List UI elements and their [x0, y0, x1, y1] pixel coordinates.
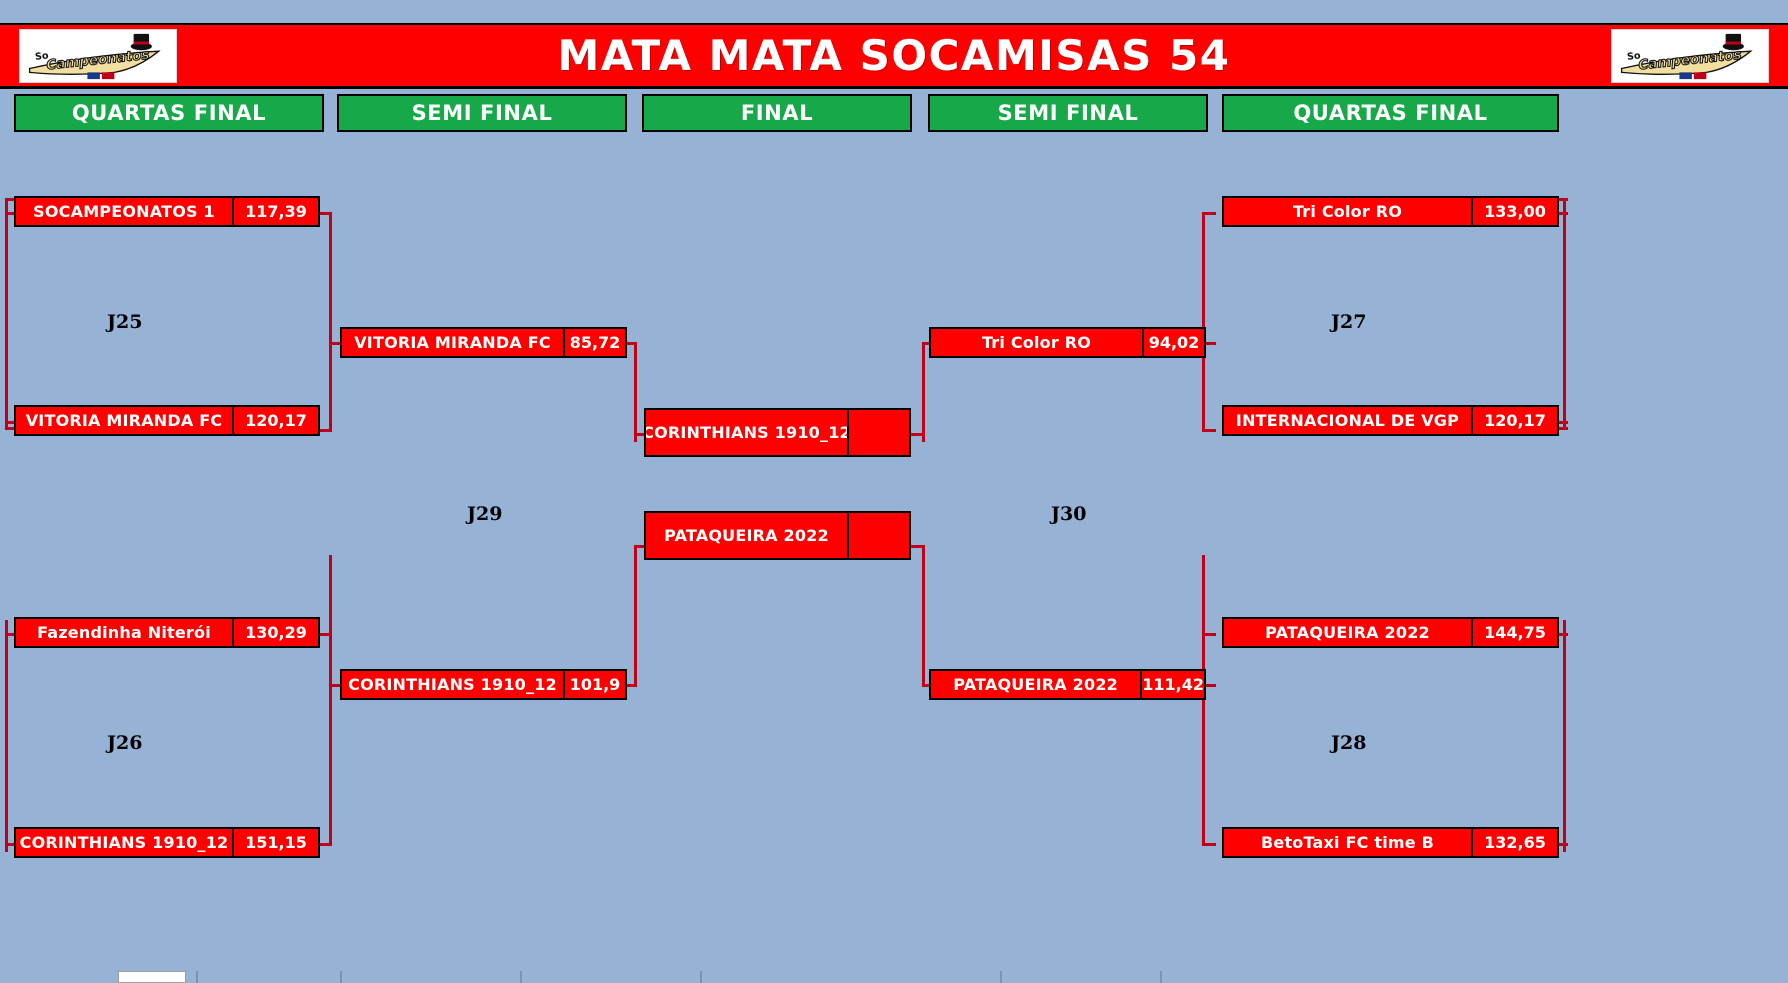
team-name: VITORIA MIRANDA FC — [16, 407, 232, 434]
connector-vitoria-join — [320, 429, 332, 432]
connector-semi-right-to-final-bottom — [922, 545, 925, 687]
connector-semi-right-to-final-top — [922, 342, 925, 442]
grid-tick — [1160, 971, 1162, 983]
team-name: BetoTaxi FC time B — [1224, 829, 1471, 856]
team-score: 132,65 — [1471, 829, 1557, 856]
logo-icon: So Campeonatos — [20, 30, 176, 82]
connector-j26-to-semi-vertical — [329, 555, 332, 845]
match-label-j26: J26 — [107, 732, 142, 754]
team-score: 144,75 — [1471, 619, 1557, 646]
team-box-j28-team1[interactable]: PATAQUEIRA 2022 144,75 — [1222, 617, 1559, 648]
team-box-j25-team1[interactable]: SOCAMPEONATOS 1 117,39 — [14, 196, 320, 227]
round-header-semi-left: SEMI FINAL — [337, 94, 627, 132]
team-score[interactable] — [847, 513, 909, 558]
team-box-j30-team1[interactable]: Tri Color RO 94,02 — [929, 327, 1206, 358]
match-label-j29: J29 — [467, 503, 502, 525]
team-score: 111,42 — [1140, 671, 1204, 698]
team-box-j29-team1[interactable]: VITORIA MIRANDA FC 85,72 — [340, 327, 627, 358]
round-header-quartas-right: QUARTAS FINAL — [1222, 94, 1559, 132]
round-header-label: FINAL — [741, 101, 813, 125]
connector-final-right-bottom — [911, 545, 925, 548]
team-score: 117,39 — [232, 198, 318, 225]
team-name: INTERNACIONAL DE VGP — [1224, 407, 1471, 434]
sheet-tab[interactable] — [118, 971, 186, 983]
round-header-label: SEMI FINAL — [412, 101, 553, 125]
logo-icon: So Campeonatos — [1612, 30, 1768, 82]
connector-j25-to-semi-vertical — [329, 212, 332, 344]
team-score: 101,9 — [563, 671, 625, 698]
team-score: 85,72 — [563, 329, 625, 356]
team-name: Tri Color RO — [931, 329, 1142, 356]
round-header-final: FINAL — [642, 94, 912, 132]
connector-semi-left-to-final-bottom — [634, 545, 637, 687]
connector-j28-to-semi-bottom — [1202, 843, 1216, 846]
team-name: CORINTHIANS 1910_12 — [16, 829, 232, 856]
team-name: VITORIA MIRANDA FC — [342, 329, 563, 356]
match-label-j25: J25 — [107, 311, 142, 333]
connector-j27-to-semi-top — [1202, 212, 1216, 215]
team-score: 94,02 — [1142, 329, 1204, 356]
so-campeonatos-logo-left: So Campeonatos — [19, 29, 177, 83]
team-name: PATAQUEIRA 2022 — [646, 513, 847, 558]
team-name: CORINTHIANS 1910_12 — [646, 410, 847, 455]
round-header-quartas-left: QUARTAS FINAL — [14, 94, 324, 132]
grid-tick — [1000, 971, 1002, 983]
connector-final-right-top — [911, 433, 925, 436]
match-label-j30: J30 — [1051, 503, 1086, 525]
team-score: 133,00 — [1471, 198, 1557, 225]
title-banner: MATA MATA SOCAMISAS 54 — [0, 23, 1788, 89]
connector-j25-vertical — [5, 198, 8, 430]
so-campeonatos-logo-right: So Campeonatos — [1611, 29, 1769, 83]
team-box-j26-team1[interactable]: Fazendinha Niterói 130,29 — [14, 617, 320, 648]
grid-tick — [196, 971, 198, 983]
connector-j28-vertical — [1563, 620, 1566, 852]
team-box-j30-team2[interactable]: PATAQUEIRA 2022 111,42 — [929, 669, 1206, 700]
connector-j25-to-semi-top — [320, 212, 332, 215]
connector-j28-to-semi-top — [1202, 633, 1216, 636]
round-header-semi-right: SEMI FINAL — [928, 94, 1208, 132]
team-box-final-team2[interactable]: PATAQUEIRA 2022 — [644, 511, 911, 560]
connector-j28-to-semi-vertical — [1202, 555, 1205, 845]
connector-j27-to-semi-vertical — [1202, 212, 1205, 344]
match-label-j27: J27 — [1331, 311, 1366, 333]
connector-j25-semi-lower — [329, 342, 332, 432]
spreadsheet-bottom-strip — [0, 971, 1788, 983]
team-score: 151,15 — [232, 829, 318, 856]
grid-tick — [520, 971, 522, 983]
team-name: PATAQUEIRA 2022 — [1224, 619, 1471, 646]
grid-tick — [700, 971, 702, 983]
page-title: MATA MATA SOCAMISAS 54 — [558, 31, 1231, 80]
team-score: 130,29 — [232, 619, 318, 646]
team-name: SOCAMPEONATOS 1 — [16, 198, 232, 225]
team-box-j26-team2[interactable]: CORINTHIANS 1910_12 151,15 — [14, 827, 320, 858]
team-box-j28-team2[interactable]: BetoTaxi FC time B 132,65 — [1222, 827, 1559, 858]
team-name: Tri Color RO — [1224, 198, 1471, 225]
team-score[interactable] — [847, 410, 909, 455]
connector-j26-to-semi-top — [320, 633, 332, 636]
match-label-j28: J28 — [1331, 732, 1366, 754]
team-box-j25-team2[interactable]: VITORIA MIRANDA FC 120,17 — [14, 405, 320, 436]
connector-j27-vertical — [1563, 198, 1566, 430]
connector-j26-to-semi-bottom — [320, 843, 332, 846]
team-box-j29-team2[interactable]: CORINTHIANS 1910_12 101,9 — [340, 669, 627, 700]
team-box-final-team1[interactable]: CORINTHIANS 1910_12 — [644, 408, 911, 457]
round-header-label: QUARTAS FINAL — [72, 101, 266, 125]
round-header-label: QUARTAS FINAL — [1293, 101, 1487, 125]
team-score: 120,17 — [1471, 407, 1557, 434]
team-name: Fazendinha Niterói — [16, 619, 232, 646]
connector-semi-left-to-final-top — [634, 342, 637, 442]
connector-internacional-join — [1202, 429, 1216, 432]
team-box-j27-team1[interactable]: Tri Color RO 133,00 — [1222, 196, 1559, 227]
team-score: 120,17 — [232, 407, 318, 434]
team-name: PATAQUEIRA 2022 — [931, 671, 1140, 698]
team-box-j27-team2[interactable]: INTERNACIONAL DE VGP 120,17 — [1222, 405, 1559, 436]
round-header-label: SEMI FINAL — [998, 101, 1139, 125]
team-name: CORINTHIANS 1910_12 — [342, 671, 563, 698]
grid-tick — [340, 971, 342, 983]
connector-j26-vertical — [5, 620, 8, 852]
